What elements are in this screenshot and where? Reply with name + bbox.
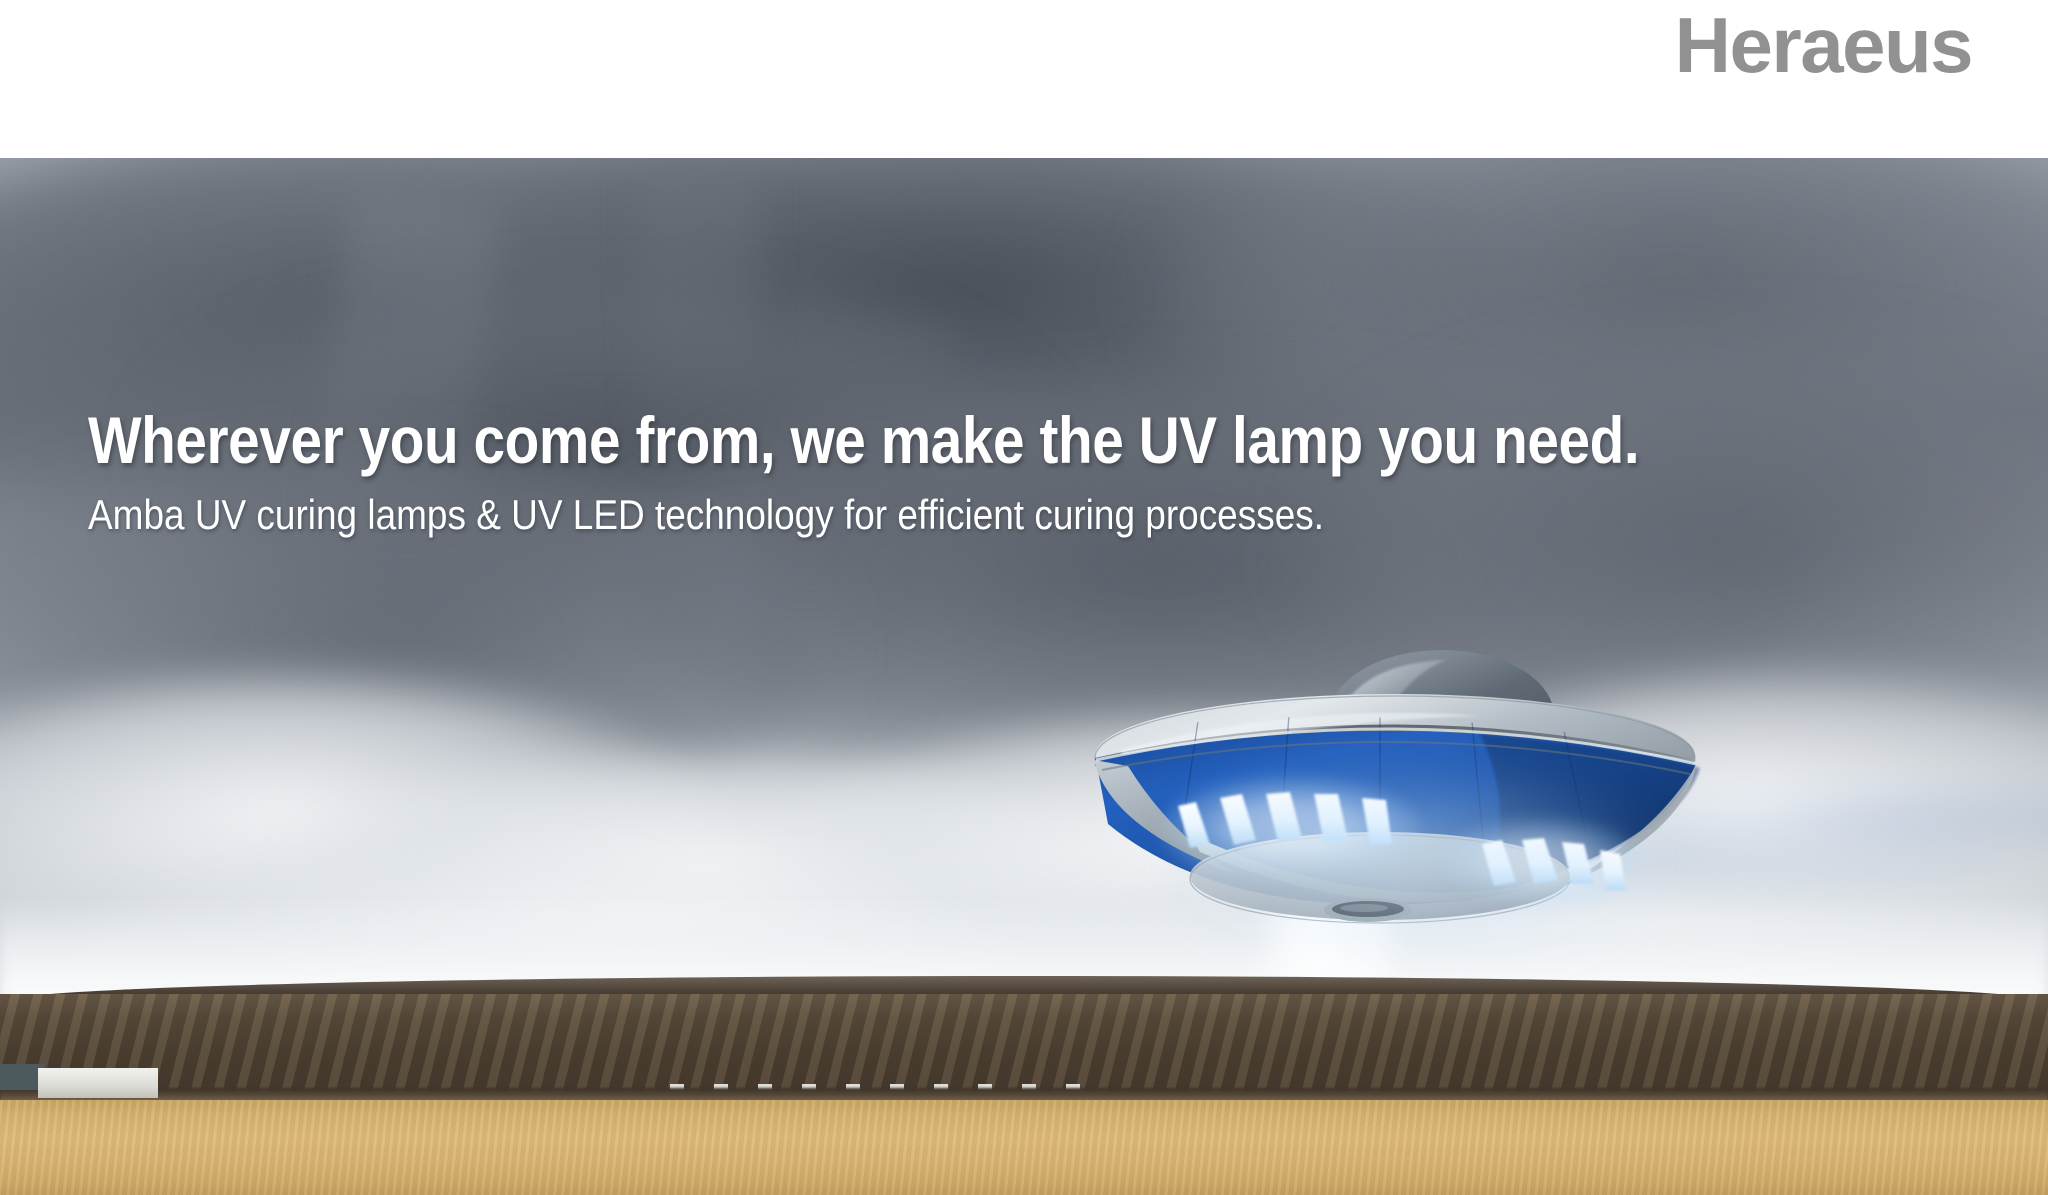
ufo-craft bbox=[1050, 638, 1740, 938]
stubble-field-texture bbox=[0, 1100, 2048, 1195]
hero-copy-block: Wherever you come from, we make the UV l… bbox=[88, 406, 1988, 538]
hero-banner: Heraeus bbox=[0, 0, 2048, 1195]
heraeus-logo[interactable]: Heraeus bbox=[1675, 6, 1972, 84]
ufo-glow-halo bbox=[1170, 758, 1650, 958]
hero-subline: Amba UV curing lamps & UV LED technology… bbox=[88, 492, 1760, 538]
landscape-ground bbox=[0, 976, 2048, 1195]
farm-building-icon bbox=[38, 1068, 158, 1098]
hero-image: Wherever you come from, we make the UV l… bbox=[0, 158, 2048, 1195]
hero-headline: Wherever you come from, we make the UV l… bbox=[88, 406, 1722, 476]
header-bar: Heraeus bbox=[0, 0, 2048, 158]
